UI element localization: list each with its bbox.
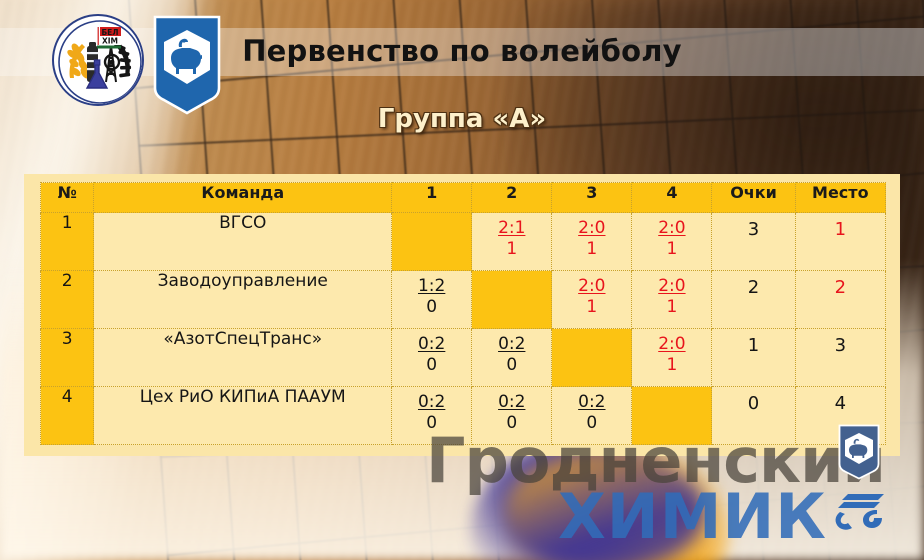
table-row: 4Цех РиО КИПиА ПААУМ0:200:200:2004 [41,387,886,445]
match-result-cell: 2:11 [472,213,552,271]
match-result-cell: 1:20 [392,271,472,329]
match-result-cell: 0:20 [472,387,552,445]
match-result-cell: 2:01 [632,271,712,329]
col-header-place: Место [795,183,885,213]
match-score: 2:0 [632,213,711,238]
final-place: 2 [795,271,885,329]
match-result-cell: 2:01 [552,213,632,271]
match-result-cell: 0:20 [392,329,472,387]
team-name: Заводоуправление [94,271,392,329]
match-score: 2:0 [552,271,631,296]
match-points: 0 [472,354,551,376]
match-result-cell: 2:01 [552,271,632,329]
match-points: 1 [552,238,631,260]
match-result-cell: 2:01 [632,329,712,387]
slide-canvas: Первенство по волейболу Группа «А» [0,0,924,560]
match-result-cell: 0:20 [552,387,632,445]
total-points: 2 [712,271,795,329]
final-place: 3 [795,329,885,387]
diagonal-blank-cell [632,387,712,445]
final-place: 4 [795,387,885,445]
belhim-logo: БЕЛ ХІМ [52,14,144,106]
table-row: 3«АзотСпецТранс»0:200:202:0113 [41,329,886,387]
col-header-opp-3: 3 [552,183,632,213]
standings-table: № Команда 1 2 3 4 Очки Место 1ВГСО2:112:… [40,182,886,445]
match-points: 0 [552,412,631,434]
final-place: 1 [795,213,885,271]
match-score: 2:0 [552,213,631,238]
row-number: 1 [41,213,94,271]
match-points: 1 [632,238,711,260]
team-name: «АзотСпецТранс» [94,329,392,387]
col-header-number: № [41,183,94,213]
volleyball-ball-core [505,452,705,560]
total-points: 1 [712,329,795,387]
diagonal-blank-cell [552,329,632,387]
diagonal-blank-cell [472,271,552,329]
match-points: 1 [632,296,711,318]
col-header-opp-4: 4 [632,183,712,213]
total-points: 0 [712,387,795,445]
match-points: 1 [552,296,631,318]
match-score: 2:0 [632,329,711,354]
match-points: 0 [392,296,471,318]
match-result-cell: 2:01 [632,213,712,271]
match-score: 2:0 [632,271,711,296]
match-points: 1 [632,354,711,376]
team-name: Цех РиО КИПиА ПААУМ [94,387,392,445]
standings-body: 1ВГСО2:112:012:01312Заводоуправление1:20… [41,213,886,445]
match-points: 0 [392,354,471,376]
col-header-opp-1: 1 [392,183,472,213]
svg-text:ХІМ: ХІМ [102,37,118,46]
match-score: 0:2 [392,329,471,354]
col-header-opp-2: 2 [472,183,552,213]
group-subtitle: Группа «А» [0,104,924,134]
match-score: 2:1 [472,213,551,238]
table-row: 2Заводоуправление1:202:012:0122 [41,271,886,329]
match-score: 0:2 [472,329,551,354]
row-number: 3 [41,329,94,387]
grodno-bison-coat-of-arms [152,14,222,116]
col-header-team: Команда [94,183,392,213]
match-result-cell: 0:20 [472,329,552,387]
col-header-points: Очки [712,183,795,213]
match-score: 0:2 [552,387,631,412]
match-points: 0 [392,412,471,434]
match-score: 1:2 [392,271,471,296]
table-row: 1ВГСО2:112:012:0131 [41,213,886,271]
row-number: 4 [41,387,94,445]
row-number: 2 [41,271,94,329]
match-result-cell: 0:20 [392,387,472,445]
team-name: ВГСО [94,213,392,271]
match-points: 1 [472,238,551,260]
table-header-row: № Команда 1 2 3 4 Очки Место [41,183,886,213]
match-score: 0:2 [392,387,471,412]
total-points: 3 [712,213,795,271]
diagonal-blank-cell [392,213,472,271]
match-points: 0 [472,412,551,434]
match-score: 0:2 [472,387,551,412]
